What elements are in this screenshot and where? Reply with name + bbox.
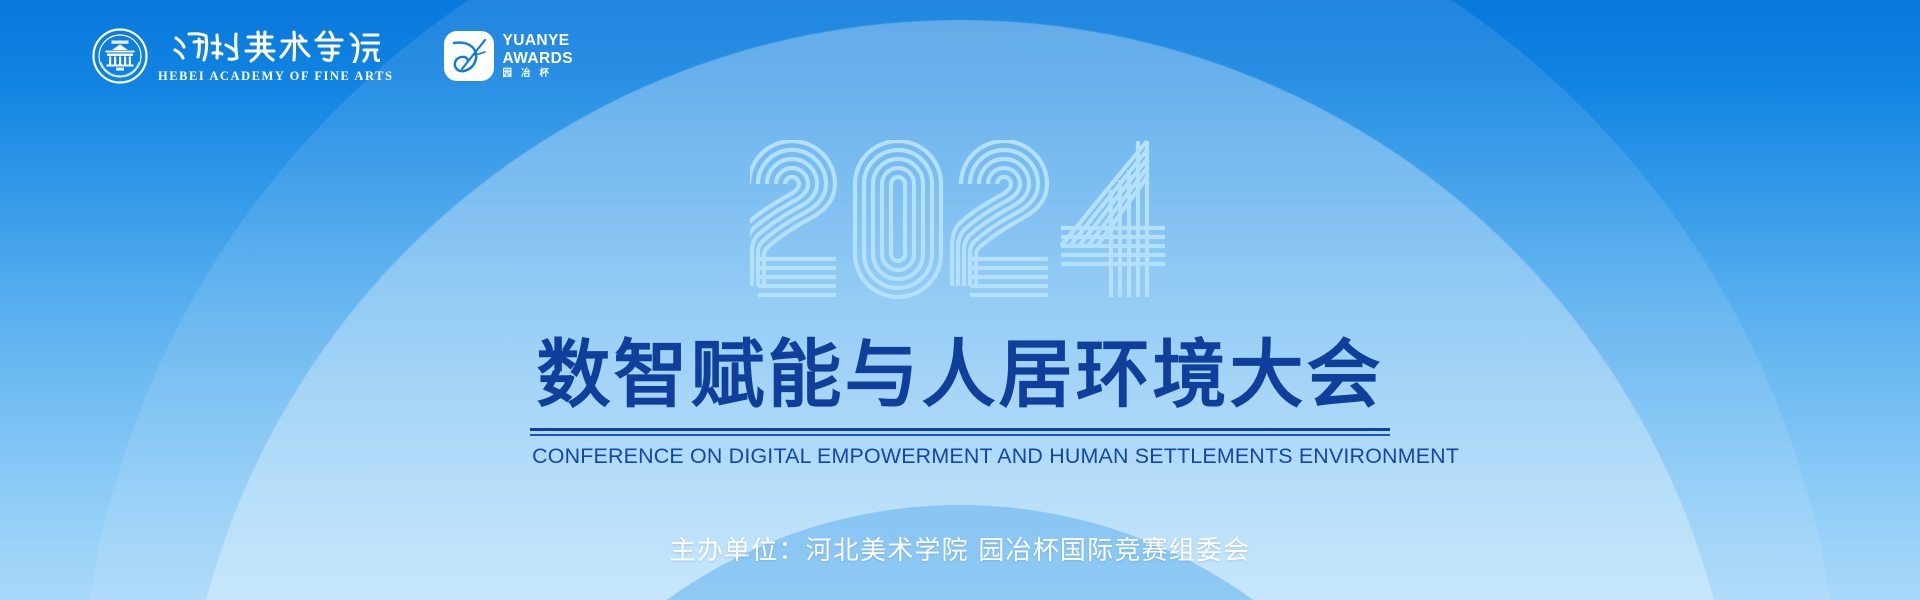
yuanye-awards-cn-chars: 园 冶 杯 [503,69,573,79]
hebei-academy-logo[interactable]: HEBEI ACADEMY OF FINE ARTS [92,28,394,84]
yuanye-cn-char-1: 园 [503,69,513,79]
yuanye-awards-wordmark: YUANYE AWARDS 园 冶 杯 [503,33,573,79]
yuanye-cn-char-3: 杯 [540,69,550,79]
year-2024-graphic [750,140,1170,300]
organizer-line: 主办单位：河北美术学院 园冶杯国际竞赛组委会 [670,530,1251,567]
title-block: 数智赋能与人居环境大会 CONFERENCE ON DIGITAL EMPOWE… [530,338,1390,469]
event-banner: HEBEI ACADEMY OF FINE ARTS YUANYE AWARDS… [0,0,1920,600]
year-digit-2a [750,141,836,295]
hebei-academy-english-name: HEBEI ACADEMY OF FINE ARTS [158,70,394,83]
page-title-english: CONFERENCE ON DIGITAL EMPOWERMENT AND HU… [532,444,1388,469]
title-rule-thick [530,428,1390,431]
yuanye-awards-line2: AWARDS [503,51,573,67]
hebei-academy-seal-icon [92,28,148,84]
year-digit-0 [855,141,941,297]
year-digit-4 [1061,141,1165,297]
hebei-academy-chinese-name [172,29,380,63]
yuanye-awards-mark-icon [444,31,494,81]
logo-row: HEBEI ACADEMY OF FINE ARTS YUANYE AWARDS… [92,28,573,84]
year-digit-2b [952,141,1048,295]
yuanye-cn-char-2: 冶 [521,69,531,79]
yuanye-awards-line1: YUANYE [503,33,573,49]
hebei-academy-wordmark: HEBEI ACADEMY OF FINE ARTS [158,29,394,83]
page-title-chinese: 数智赋能与人居环境大会 [530,338,1390,412]
title-rule-thin [530,434,1390,436]
yuanye-awards-logo[interactable]: YUANYE AWARDS 园 冶 杯 [444,31,573,81]
